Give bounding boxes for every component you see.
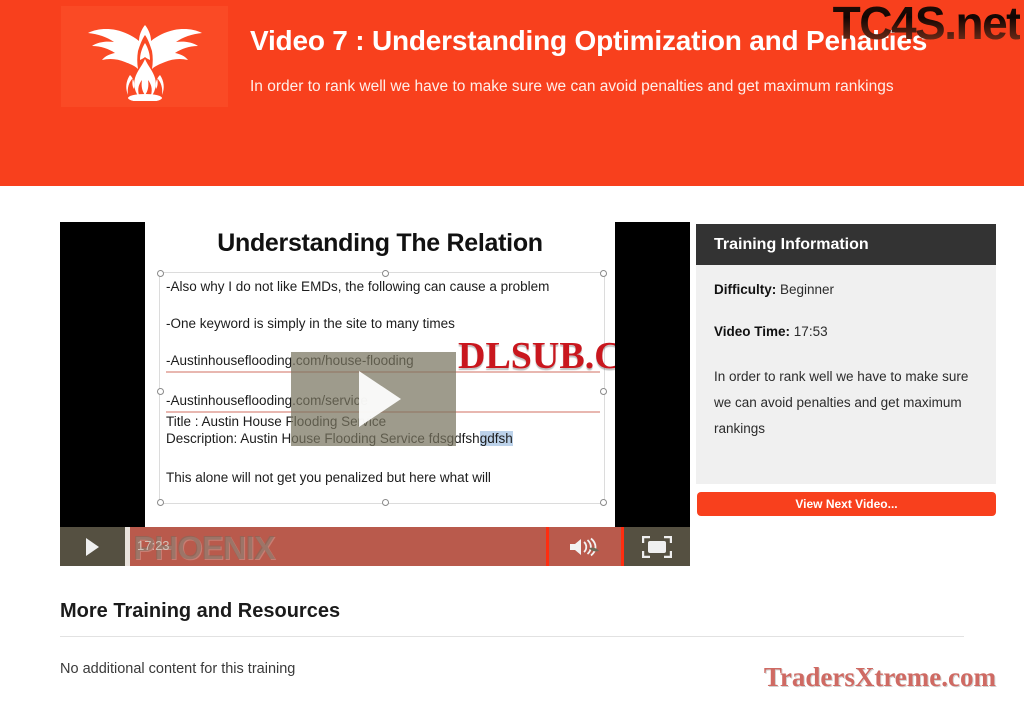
- video-player[interactable]: Understanding The Relation -Also why I d…: [60, 222, 690, 566]
- difficulty-row: Difficulty: Beginner: [714, 281, 978, 299]
- fullscreen-icon: [642, 536, 672, 558]
- view-next-video-button[interactable]: View Next Video...: [697, 492, 996, 516]
- dlsub-watermark: DLSUB.COM: [458, 334, 615, 378]
- panel-heading: Training Information: [696, 224, 996, 265]
- logo-box: [61, 6, 228, 107]
- video-time-value: 17:53: [794, 324, 828, 339]
- video-time-row: Video Time: 17:53: [714, 323, 978, 341]
- resize-handle: [157, 499, 164, 506]
- progress-bar[interactable]: PHOENIX 17:23: [125, 527, 546, 566]
- difficulty-value: Beginner: [780, 282, 834, 297]
- slide-line-highlight: gdfsh: [480, 431, 513, 446]
- fullscreen-button[interactable]: [624, 527, 690, 566]
- play-button[interactable]: [60, 527, 125, 566]
- resize-handle: [600, 499, 607, 506]
- section-divider: [60, 636, 964, 637]
- volume-button[interactable]: [546, 527, 624, 566]
- play-overlay-button[interactable]: [291, 352, 456, 446]
- phoenix-logo-icon: [80, 13, 210, 101]
- time-display: 17:23: [137, 538, 170, 553]
- resize-handle: [382, 499, 389, 506]
- dlsub-watermark-text: DLSUB.COM: [458, 335, 615, 377]
- tc4s-watermark: TC4S.net: [833, 0, 1020, 50]
- more-training-text: No additional content for this training: [60, 661, 295, 677]
- volume-icon: [568, 536, 602, 558]
- resize-handle: [600, 388, 607, 395]
- panel-description: In order to rank well we have to make su…: [714, 364, 978, 442]
- resize-handle: [157, 270, 164, 277]
- panel-body: Difficulty: Beginner Video Time: 17:53 I…: [696, 265, 996, 484]
- slide-line: This alone will not get you penalized bu…: [166, 470, 600, 487]
- resize-handle: [600, 270, 607, 277]
- page-header: Video 7 : Understanding Optimization and…: [0, 0, 1024, 186]
- slide-line: -Also why I do not like EMDs, the follow…: [166, 279, 600, 296]
- page-subtitle: In order to rank well we have to make su…: [250, 74, 960, 99]
- resize-handle: [382, 270, 389, 277]
- progress-buffer: [125, 527, 130, 566]
- resize-handle: [157, 388, 164, 395]
- video-time-label: Video Time:: [714, 324, 790, 339]
- slide-line: -One keyword is simply in the site to ma…: [166, 316, 600, 333]
- tradersxtreme-watermark: TradersXtreme.com: [764, 662, 996, 693]
- video-controls[interactable]: PHOENIX 17:23: [60, 527, 690, 566]
- more-training-heading: More Training and Resources: [60, 600, 340, 623]
- slide-title: Understanding The Relation: [145, 229, 615, 258]
- play-icon: [86, 538, 99, 556]
- difficulty-label: Difficulty:: [714, 282, 776, 297]
- play-triangle-icon: [359, 371, 401, 427]
- video-stage[interactable]: Understanding The Relation -Also why I d…: [60, 222, 690, 527]
- training-information-panel: Training Information Difficulty: Beginne…: [696, 224, 996, 484]
